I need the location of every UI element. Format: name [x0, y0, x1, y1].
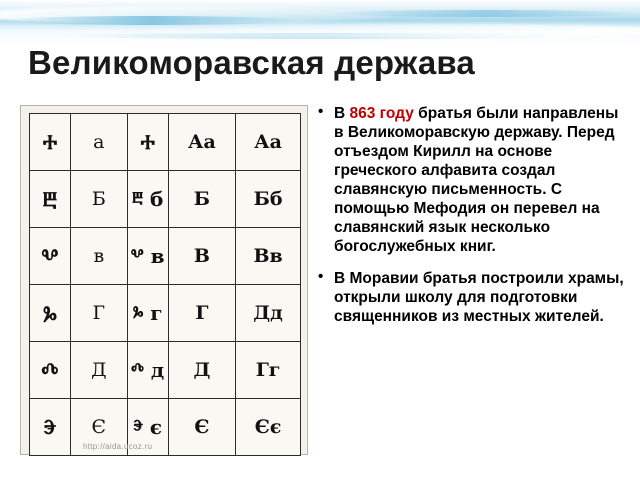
cell-cyrillic-pair: Б	[168, 171, 236, 228]
cell-glagolitic-capital: Ⰴ	[30, 342, 71, 399]
cell-glagolitic-variants: Д	[70, 342, 127, 399]
list-item: В Моравии братья построили храмы, открыл…	[316, 269, 628, 326]
bullet-text-pre: В Моравии братья построили храмы, открыл…	[334, 270, 624, 325]
bullet-text-post: братья были направлены в Великоморавскую…	[334, 105, 618, 255]
cell-cyrillic-pair: Аа	[168, 114, 236, 171]
cell-modern-pair: Гг	[236, 342, 301, 399]
cell-modern-pair: Аа	[236, 114, 301, 171]
cell-glagolitic-variants: Б	[70, 171, 127, 228]
cell-modern-pair: Єє	[236, 399, 301, 456]
cell-cyrillic-capital: ⰱ б	[127, 171, 168, 228]
cell-modern-pair: Дд	[236, 285, 301, 342]
bullet-text-pre: В	[334, 105, 350, 122]
cell-glagolitic-variants: в	[70, 228, 127, 285]
slide: Великоморавская держава Ⰰ а Ⰰ Аа Аа Ⰱ Б …	[0, 0, 640, 480]
list-item: В 863 году братья были направлены в Вели…	[316, 104, 628, 257]
band-streak-left	[0, 16, 300, 25]
alphabet-table-body: Ⰰ а Ⰰ Аа Аа Ⰱ Б ⰱ б Б Бб Ⰲ в ⰲ в В	[30, 114, 301, 456]
alphabet-table: Ⰰ а Ⰰ Аа Аа Ⰱ Б ⰱ б Б Бб Ⰲ в ⰲ в В	[29, 113, 301, 456]
cell-glagolitic-capital: Ⰲ	[30, 228, 71, 285]
cell-cyrillic-capital: Ⰰ	[127, 114, 168, 171]
bullet-accent-year: 863 году	[350, 105, 414, 122]
table-row: Ⰱ Б ⰱ б Б Бб	[30, 171, 301, 228]
band-streak-right	[330, 10, 640, 17]
cell-cyrillic-pair: Д	[168, 342, 236, 399]
cell-glagolitic-variants: Г	[70, 285, 127, 342]
table-row: Ⰴ Д ⰴ д Д Гг	[30, 342, 301, 399]
cell-glagolitic-capital: Ⰰ	[30, 114, 71, 171]
cell-cyrillic-pair: Г	[168, 285, 236, 342]
watermark-text: http://aida.ucoz.ru	[83, 442, 152, 451]
slide-title: Великоморавская держава	[28, 36, 612, 90]
cell-glagolitic-capital: Ⰵ	[30, 399, 71, 456]
cell-modern-pair: Вв	[236, 228, 301, 285]
cell-modern-pair: Бб	[236, 171, 301, 228]
page-title: Великоморавская держава	[28, 36, 612, 90]
cell-glagolitic-capital: Ⰳ	[30, 285, 71, 342]
cell-glagolitic-variants: а	[70, 114, 127, 171]
table-row: Ⰲ в ⰲ в В Вв	[30, 228, 301, 285]
cell-cyrillic-pair: В	[168, 228, 236, 285]
cell-cyrillic-capital: ⰲ в	[127, 228, 168, 285]
table-row: Ⰵ Є ⰵ є Є Єє	[30, 399, 301, 456]
cell-cyrillic-capital: ⰳ г	[127, 285, 168, 342]
cell-glagolitic-capital: Ⰱ	[30, 171, 71, 228]
table-row: Ⰰ а Ⰰ Аа Аа	[30, 114, 301, 171]
cell-cyrillic-capital: ⰴ д	[127, 342, 168, 399]
table-row: Ⰳ Г ⰳ г Г Дд	[30, 285, 301, 342]
alphabet-comparison-image: Ⰰ а Ⰰ Аа Аа Ⰱ Б ⰱ б Б Бб Ⰲ в ⰲ в В	[20, 105, 308, 455]
cell-cyrillic-pair: Є	[168, 399, 236, 456]
bullet-list: В 863 году братья были направлены в Вели…	[316, 104, 628, 338]
